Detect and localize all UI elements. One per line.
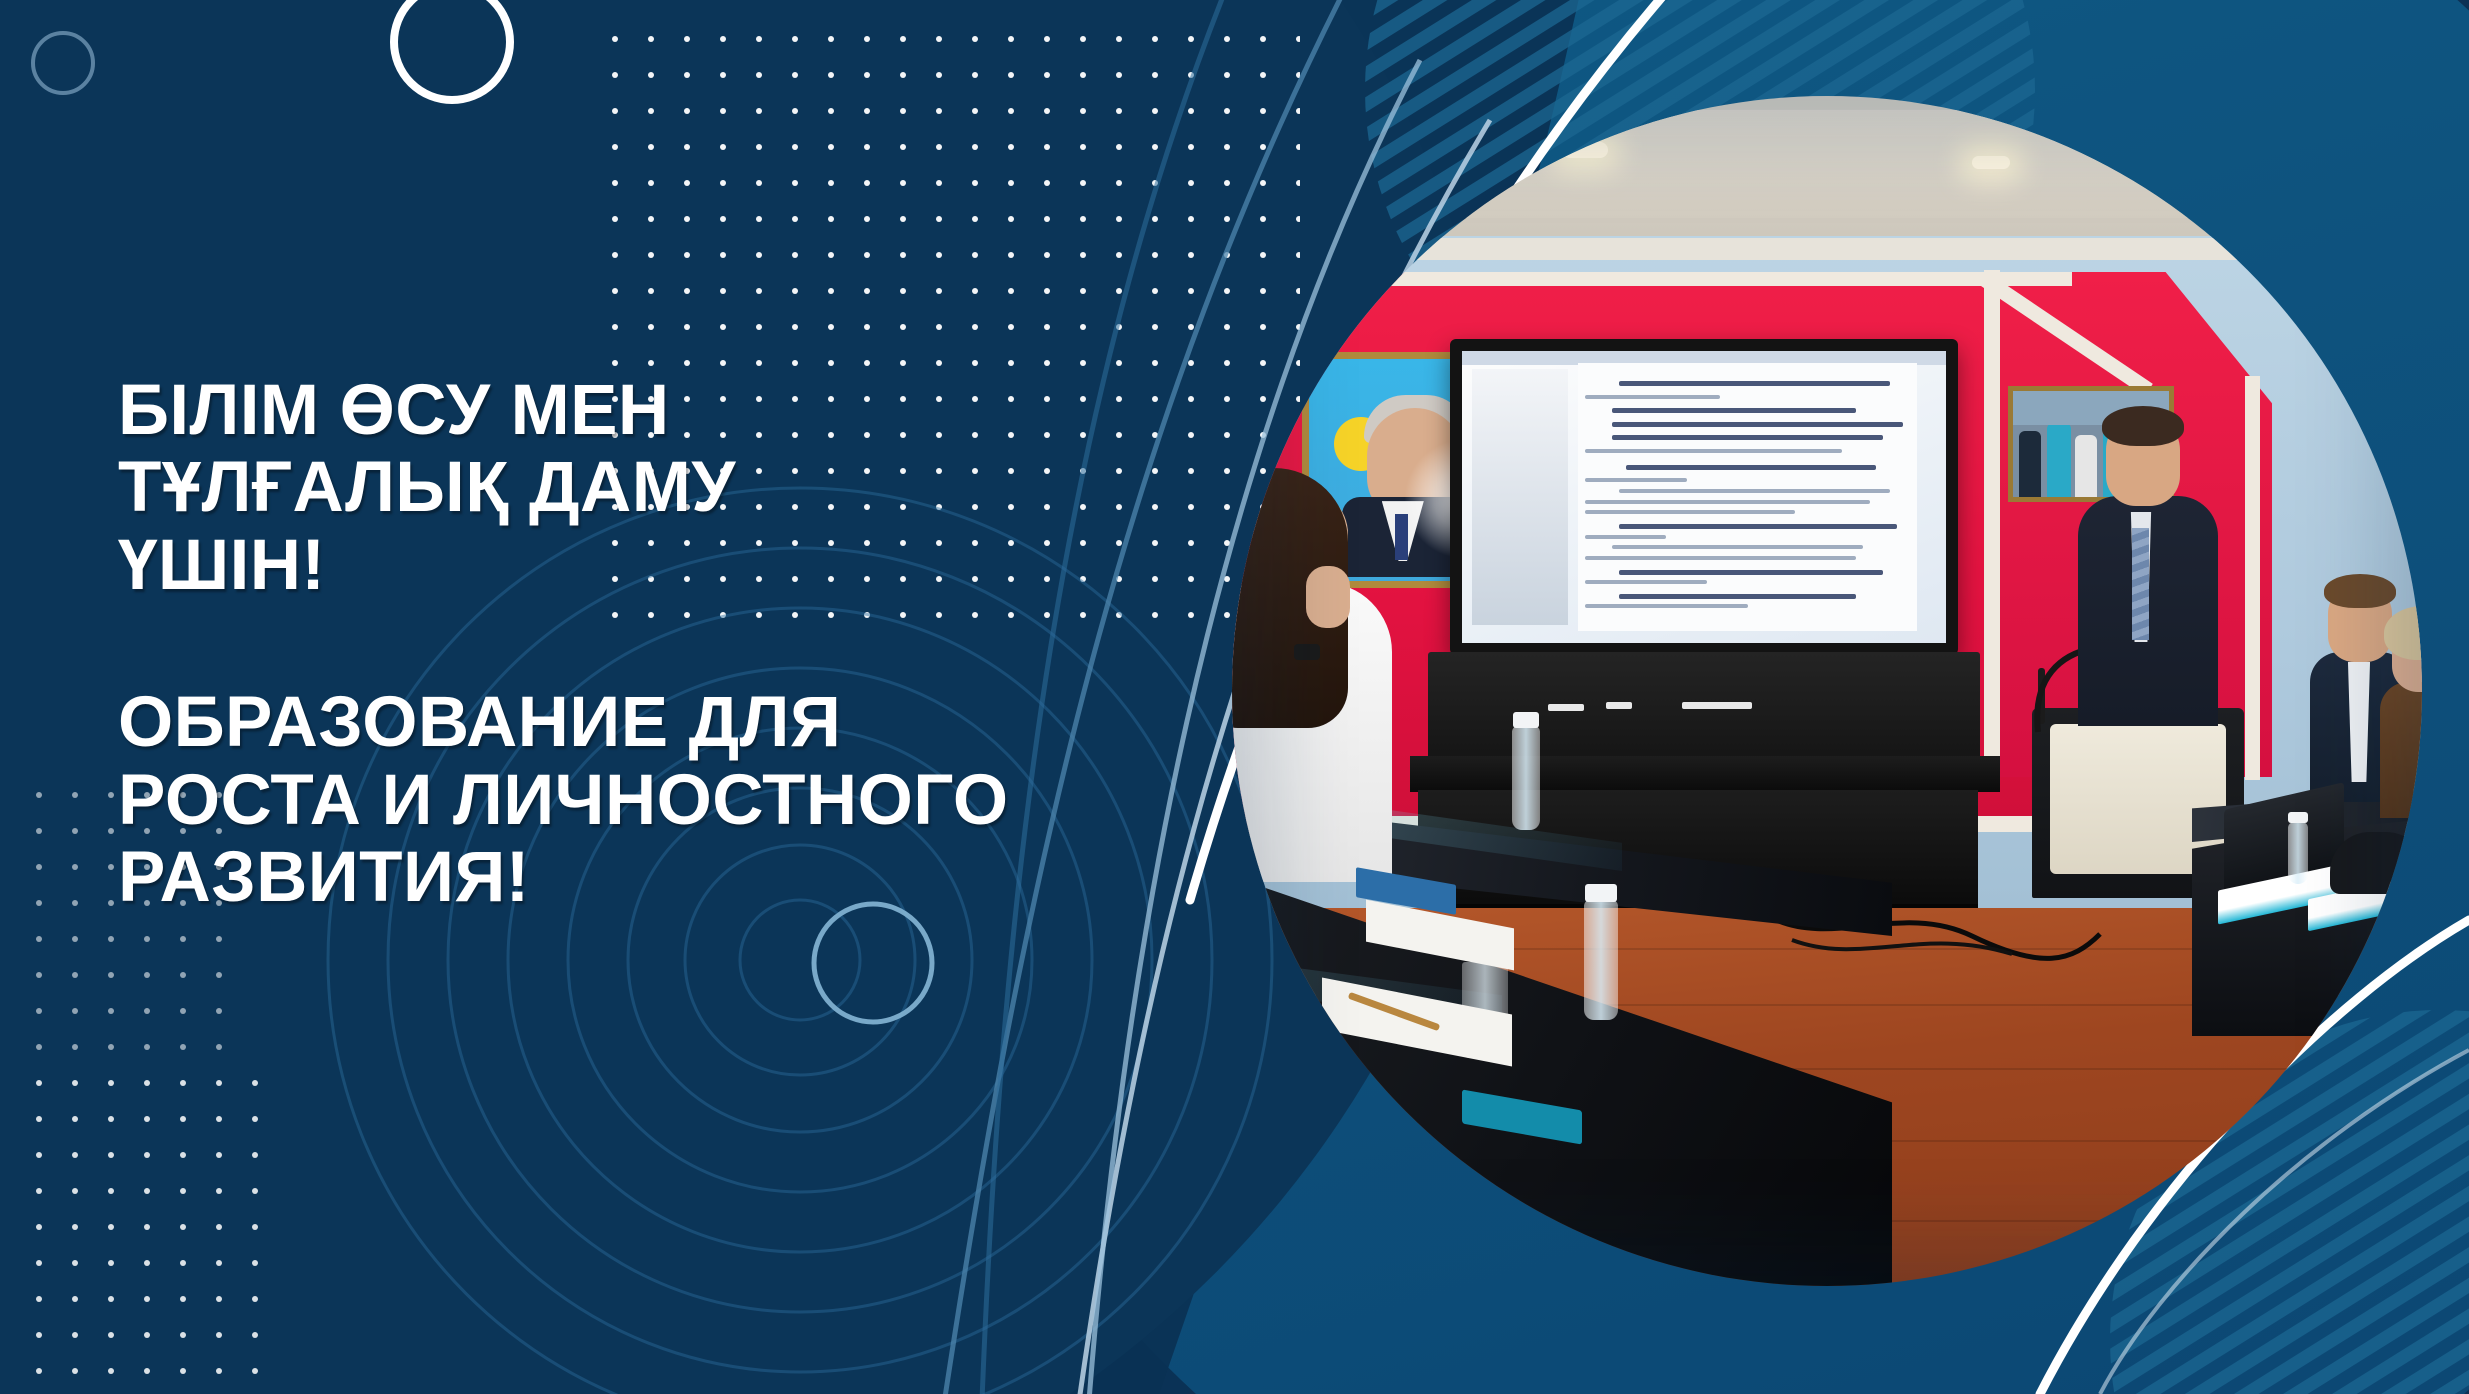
headline-block: БІЛІМ ӨСУ МЕН ТҰЛҒАЛЫҚ ДАМУ ҮШІН! ОБРАЗО… (118, 372, 1238, 916)
photo-vignette (1232, 96, 2422, 1286)
headline-kk-line-1: БІЛІМ ӨСУ МЕН (118, 372, 1238, 449)
headline-spacer (118, 604, 1238, 684)
promo-banner: БІЛІМ ӨСУ МЕН ТҰЛҒАЛЫҚ ДАМУ ҮШІН! ОБРАЗО… (0, 0, 2469, 1394)
headline-ru-line-1: ОБРАЗОВАНИЕ ДЛЯ (118, 684, 1238, 761)
decor-dot-grid-bottomleft (20, 1070, 260, 1394)
headline-ru-line-2: РОСТА И ЛИЧНОСТНОГО (118, 762, 1238, 839)
photo-circle (1232, 96, 2422, 1286)
conference-photo (1232, 96, 2422, 1286)
headline-kk-line-2: ТҰЛҒАЛЫҚ ДАМУ (118, 449, 1238, 526)
headline-kk-line-3: ҮШІН! (118, 527, 1238, 604)
headline-russian: ОБРАЗОВАНИЕ ДЛЯ РОСТА И ЛИЧНОСТНОГО РАЗВ… (118, 684, 1238, 916)
headline-ru-line-3: РАЗВИТИЯ! (118, 839, 1238, 916)
headline-kazakh: БІЛІМ ӨСУ МЕН ТҰЛҒАЛЫҚ ДАМУ ҮШІН! (118, 372, 1238, 604)
